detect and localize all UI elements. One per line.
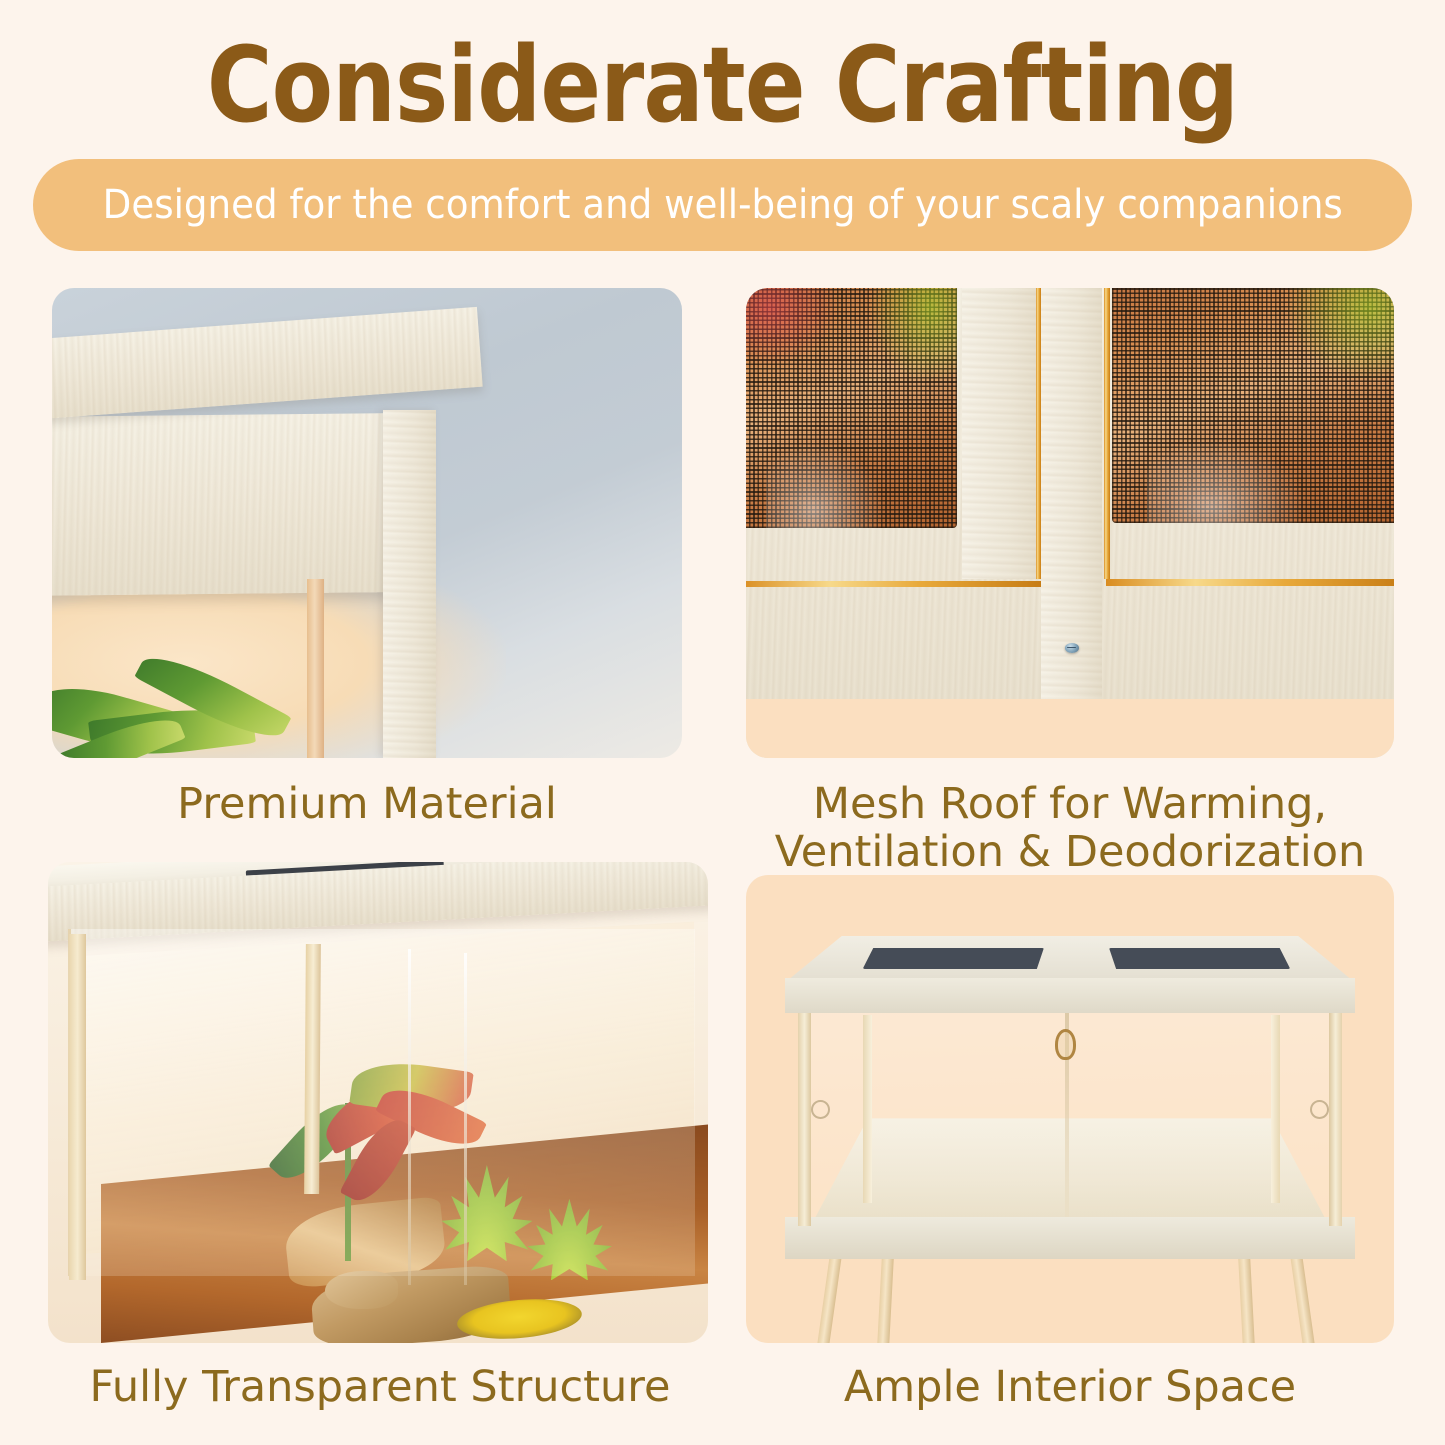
center-wood-beam xyxy=(1041,288,1103,702)
panel-peach-band xyxy=(746,699,1394,758)
roof-vent-panel xyxy=(1109,948,1290,970)
gold-lit-seam xyxy=(1036,288,1041,579)
screen-frame-divider xyxy=(962,288,1040,579)
wood-inner-post xyxy=(863,1015,872,1202)
page-title: Considerate Crafting xyxy=(101,26,1344,146)
terrarium-leg xyxy=(1238,1254,1255,1343)
subtitle-banner: Designed for the comfort and well-being … xyxy=(33,159,1412,251)
glass-door-seam xyxy=(408,949,411,1286)
inner-wood-post xyxy=(307,579,323,758)
wood-corner-post xyxy=(69,934,86,1280)
light-highlight-tint xyxy=(766,442,885,528)
feature-image-transparent-structure xyxy=(48,862,708,1343)
terrarium-base-rail xyxy=(785,1217,1355,1259)
wood-top-rail xyxy=(52,307,482,420)
roof-vent-panel xyxy=(863,948,1044,970)
wood-corner-post xyxy=(383,410,437,758)
terrarium-top-rail xyxy=(785,978,1355,1013)
feature-image-interior-space xyxy=(746,875,1394,1343)
wood-inner-post xyxy=(1271,1015,1280,1202)
wood-inner-post xyxy=(305,944,321,1194)
terrarium-leg xyxy=(1290,1253,1315,1343)
gold-lit-seam xyxy=(746,581,1041,587)
feature-caption-transparent-structure: Fully Transparent Structure xyxy=(40,1363,720,1411)
terrarium-leg xyxy=(877,1254,894,1343)
bearded-dragon-head xyxy=(325,1271,398,1309)
feature-image-mesh-roof xyxy=(746,288,1394,758)
mesh-screen-left xyxy=(746,288,957,528)
light-highlight-tint xyxy=(1147,439,1307,523)
feature-caption-mesh-roof: Mesh Roof for Warming, Ventilation & Deo… xyxy=(740,780,1400,876)
feature-caption-premium-material: Premium Material xyxy=(52,780,682,828)
wood-front-face xyxy=(52,413,393,595)
subtitle-text: Designed for the comfort and well-being … xyxy=(102,182,1342,228)
red-plant-tint xyxy=(746,288,839,366)
door-latch-icon xyxy=(1055,1029,1076,1060)
feature-image-premium-material xyxy=(52,288,682,758)
wood-corner-post xyxy=(1329,1011,1342,1226)
gold-lit-seam xyxy=(1104,288,1109,579)
green-plant-tint xyxy=(1287,288,1394,379)
feature-caption-interior-space: Ample Interior Space xyxy=(746,1363,1394,1411)
mesh-screen-right xyxy=(1112,288,1394,523)
terrarium-leg xyxy=(817,1253,842,1343)
glass-front-panel xyxy=(68,929,695,1275)
gold-lit-seam xyxy=(1106,579,1394,585)
glass-door-seam xyxy=(464,953,467,1285)
wood-corner-post xyxy=(798,1011,811,1226)
screw-icon xyxy=(1065,643,1079,653)
green-plant-tint xyxy=(870,288,957,381)
